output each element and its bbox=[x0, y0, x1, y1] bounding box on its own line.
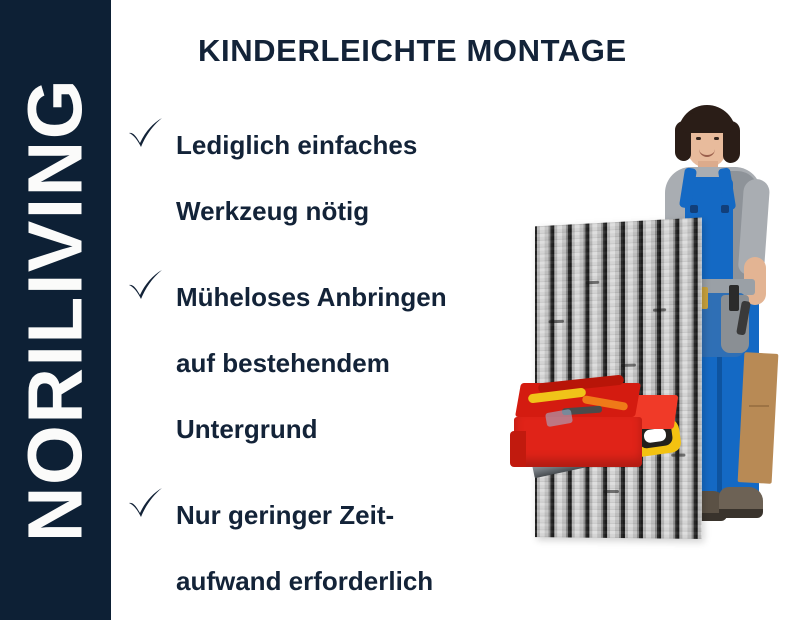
check-icon bbox=[126, 268, 166, 302]
brand-sidebar: NORILIVING bbox=[0, 0, 111, 620]
panel-knot bbox=[603, 490, 619, 493]
list-item-text: Lediglich einfaches Werkzeug nötig bbox=[176, 112, 496, 244]
worker-fringe bbox=[681, 113, 733, 133]
list-item-text: Müheloses Anbringen auf bestehendem Unte… bbox=[176, 264, 496, 462]
wooden-board-line bbox=[749, 405, 769, 407]
worker-sole-right bbox=[719, 509, 763, 518]
brand-name: NORILIVING bbox=[17, 78, 94, 542]
belt-tool-screwdriver bbox=[701, 287, 708, 309]
list-item-line: auf bestehendem bbox=[176, 330, 496, 396]
list-item-line: aufwand erforderlich bbox=[176, 548, 496, 614]
worker-leg-seam bbox=[717, 355, 722, 501]
list-item-text: Nur geringer Zeit- aufwand erforderlich bbox=[176, 482, 496, 614]
panel-knot bbox=[621, 364, 636, 367]
feature-list: Lediglich einfaches Werkzeug nötig Mühel… bbox=[126, 112, 496, 620]
worker-buckle-left bbox=[690, 205, 698, 213]
wooden-board bbox=[738, 352, 779, 484]
check-icon bbox=[126, 486, 166, 520]
panel-knot bbox=[585, 281, 599, 285]
list-item-line: Müheloses Anbringen bbox=[176, 264, 496, 330]
red-toolbox bbox=[508, 377, 688, 473]
list-item-line: Werkzeug nötig bbox=[176, 178, 496, 244]
check-icon bbox=[126, 116, 166, 150]
belt-tool-hammer bbox=[729, 285, 739, 311]
toolbox-foot bbox=[510, 431, 526, 467]
list-item-line: Nur geringer Zeit- bbox=[176, 482, 496, 548]
worker-eye-left bbox=[696, 137, 701, 140]
toolbox-body bbox=[514, 417, 642, 467]
page-title: KINDERLEICHTE MONTAGE bbox=[198, 33, 627, 69]
promo-banner: NORILIVING KINDERLEICHTE MONTAGE Ledigli… bbox=[0, 0, 800, 620]
list-item-line: Untergrund bbox=[176, 396, 496, 462]
product-photo bbox=[490, 95, 800, 565]
panel-knot bbox=[548, 320, 563, 323]
list-item-line: Lediglich einfaches bbox=[176, 112, 496, 178]
list-item: Lediglich einfaches Werkzeug nötig bbox=[126, 112, 496, 244]
worker-eye-right bbox=[714, 137, 719, 140]
list-item: Müheloses Anbringen auf bestehendem Unte… bbox=[126, 264, 496, 462]
worker-buckle-right bbox=[721, 205, 729, 213]
panel-knot bbox=[653, 308, 666, 311]
list-item: Nur geringer Zeit- aufwand erforderlich bbox=[126, 482, 496, 614]
